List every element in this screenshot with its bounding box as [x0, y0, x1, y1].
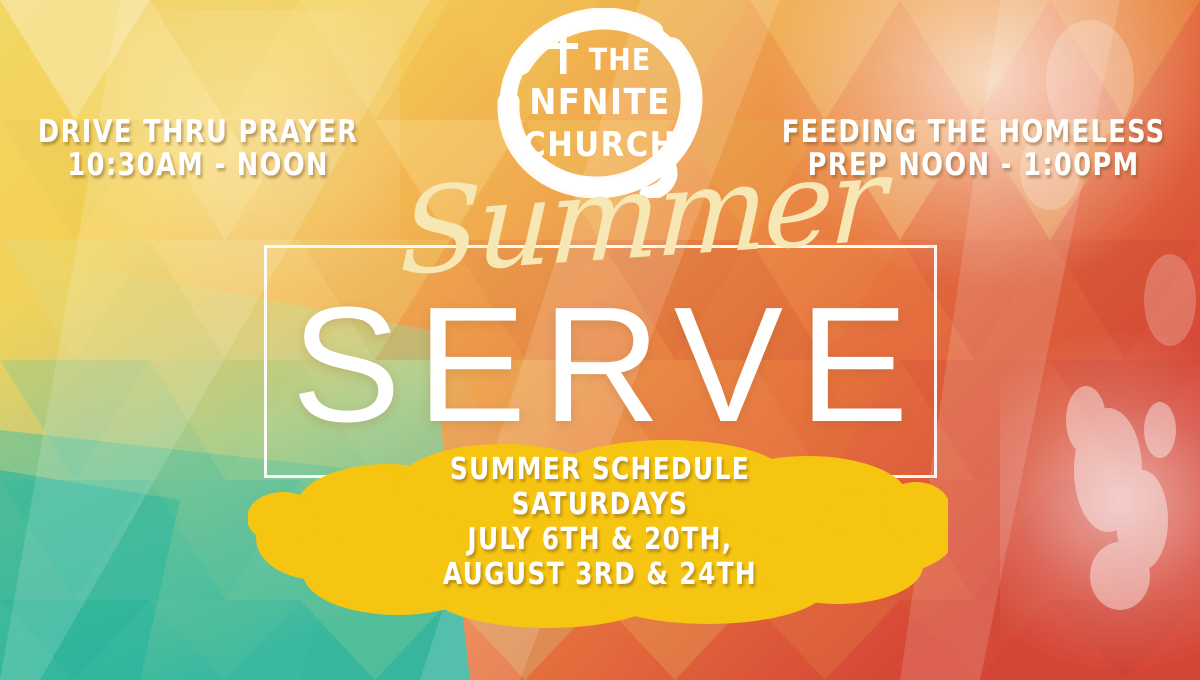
- logo-line-the: THE: [589, 43, 651, 78]
- summer-schedule-block: SUMMER SCHEDULE SATURDAYS JULY 6TH & 20T…: [0, 452, 1200, 592]
- schedule-line-august: AUGUST 3RD & 24TH: [48, 557, 1152, 592]
- schedule-line-title: SUMMER SCHEDULE: [48, 452, 1152, 487]
- schedule-line-july: JULY 6TH & 20TH,: [48, 522, 1152, 557]
- logo-line-nfnite: NFNITE: [529, 82, 671, 123]
- drive-thru-prayer-time: 10:30AM - NOON: [38, 149, 358, 182]
- schedule-line-days: SATURDAYS: [48, 487, 1152, 522]
- drive-thru-prayer-block: DRIVE THRU PRAYER 10:30AM - NOON: [24, 116, 372, 183]
- drive-thru-prayer-title: DRIVE THRU PRAYER: [38, 116, 358, 149]
- summer-serve-poster: THE NFNITE CHURCH DRIVE THRU PRAYER 10:3…: [0, 0, 1200, 680]
- serve-headline: SERVE: [0, 283, 1200, 447]
